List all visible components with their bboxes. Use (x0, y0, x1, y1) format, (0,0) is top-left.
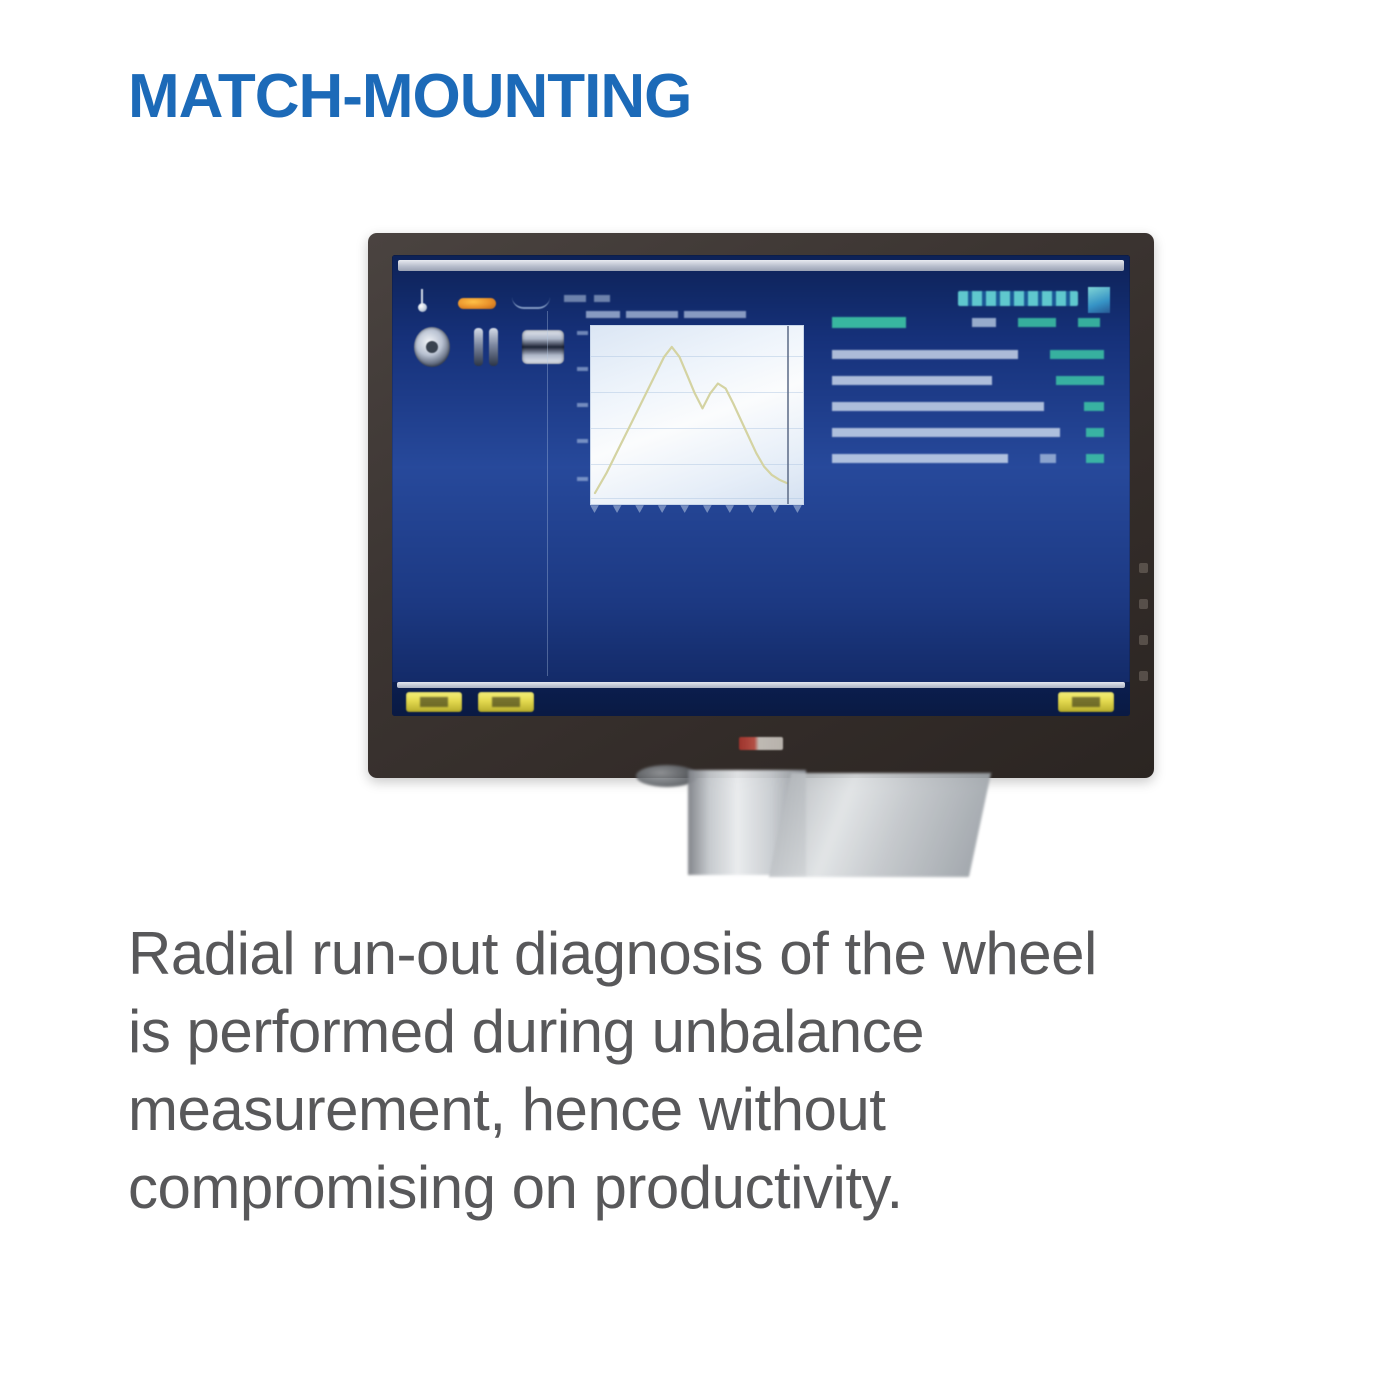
brand-logo-icon (958, 291, 1078, 306)
softkey-button-right-1[interactable] (1058, 692, 1114, 712)
column-header (1078, 318, 1100, 327)
row-value-secondary (1040, 454, 1056, 463)
row-label (832, 428, 1060, 437)
y-tick-label (577, 403, 588, 407)
panel-divider (547, 311, 548, 676)
chart-y-axis (574, 327, 588, 499)
toolbar-status-label (564, 295, 618, 302)
table-row (832, 428, 1104, 437)
row-value (1086, 428, 1104, 437)
screen-titlebar (398, 260, 1124, 271)
table-row (832, 402, 1104, 411)
twin-bar-icon[interactable] (472, 328, 502, 366)
screen-body (392, 277, 1130, 682)
y-tick-label (577, 331, 588, 335)
x-tick (635, 505, 644, 513)
tire-profile-icon[interactable] (522, 330, 564, 364)
x-tick (725, 505, 734, 513)
brand-mark-icon (1088, 287, 1110, 313)
x-tick (748, 505, 757, 513)
row-label (832, 402, 1044, 411)
chart-plot-area (590, 325, 804, 505)
wave-curve-icon[interactable] (512, 297, 550, 309)
column-header (832, 317, 906, 328)
table-row (832, 454, 1104, 463)
y-tick-label (577, 439, 588, 443)
manufacturer-badge-icon (739, 737, 783, 750)
chart-cursor-line[interactable] (787, 326, 789, 504)
softkey-bar (392, 682, 1130, 716)
page-title: MATCH-MOUNTING (128, 64, 691, 129)
toolbar-top[interactable] (414, 287, 614, 321)
product-photo (128, 185, 1272, 885)
row-label (832, 376, 992, 385)
table-row (832, 350, 1104, 359)
row-value (1056, 376, 1104, 385)
caption-line-2: is performed during unbalance (128, 993, 1308, 1071)
x-tick (793, 505, 802, 513)
caption-line-3: measurement, hence without (128, 1071, 1308, 1149)
chart-x-axis-ticks (590, 505, 802, 515)
y-tick-label (577, 477, 588, 481)
caption-line-4: compromising on productivity. (128, 1149, 1308, 1227)
x-tick (703, 505, 712, 513)
x-tick (770, 505, 779, 513)
monitor-stand-arm (769, 773, 991, 877)
results-table (832, 317, 1104, 480)
monitor-side-buttons[interactable] (1139, 563, 1148, 681)
caption-text: Radial run-out diagnosis of the wheel is… (128, 915, 1308, 1227)
softkey-button-left-2[interactable] (478, 692, 534, 712)
x-tick (680, 505, 689, 513)
monitor-screen (392, 255, 1130, 716)
x-tick (590, 505, 599, 513)
row-label (832, 350, 1018, 359)
x-tick (658, 505, 667, 513)
monitor-button-1[interactable] (1139, 563, 1148, 573)
monitor-button-3[interactable] (1139, 635, 1148, 645)
chart-title (586, 311, 746, 318)
runout-chart (574, 319, 814, 519)
column-header (1018, 318, 1056, 327)
y-tick-label (577, 367, 588, 371)
row-value (1084, 402, 1104, 411)
table-row (832, 376, 1104, 385)
column-header (972, 318, 996, 327)
row-value (1086, 454, 1104, 463)
row-label (832, 454, 1008, 463)
chart-curve (591, 326, 803, 504)
orange-oval-icon[interactable] (458, 298, 496, 309)
row-value (1050, 350, 1104, 359)
pin-probe-icon[interactable] (418, 289, 426, 319)
monitor-bezel (368, 233, 1154, 778)
monitor-button-4[interactable] (1139, 671, 1148, 681)
results-table-header (832, 317, 1104, 328)
x-tick (613, 505, 622, 513)
dial-gauge-icon[interactable] (414, 327, 450, 367)
monitor-button-2[interactable] (1139, 599, 1148, 609)
softkey-button-left-1[interactable] (406, 692, 462, 712)
caption-line-1: Radial run-out diagnosis of the wheel (128, 915, 1308, 993)
